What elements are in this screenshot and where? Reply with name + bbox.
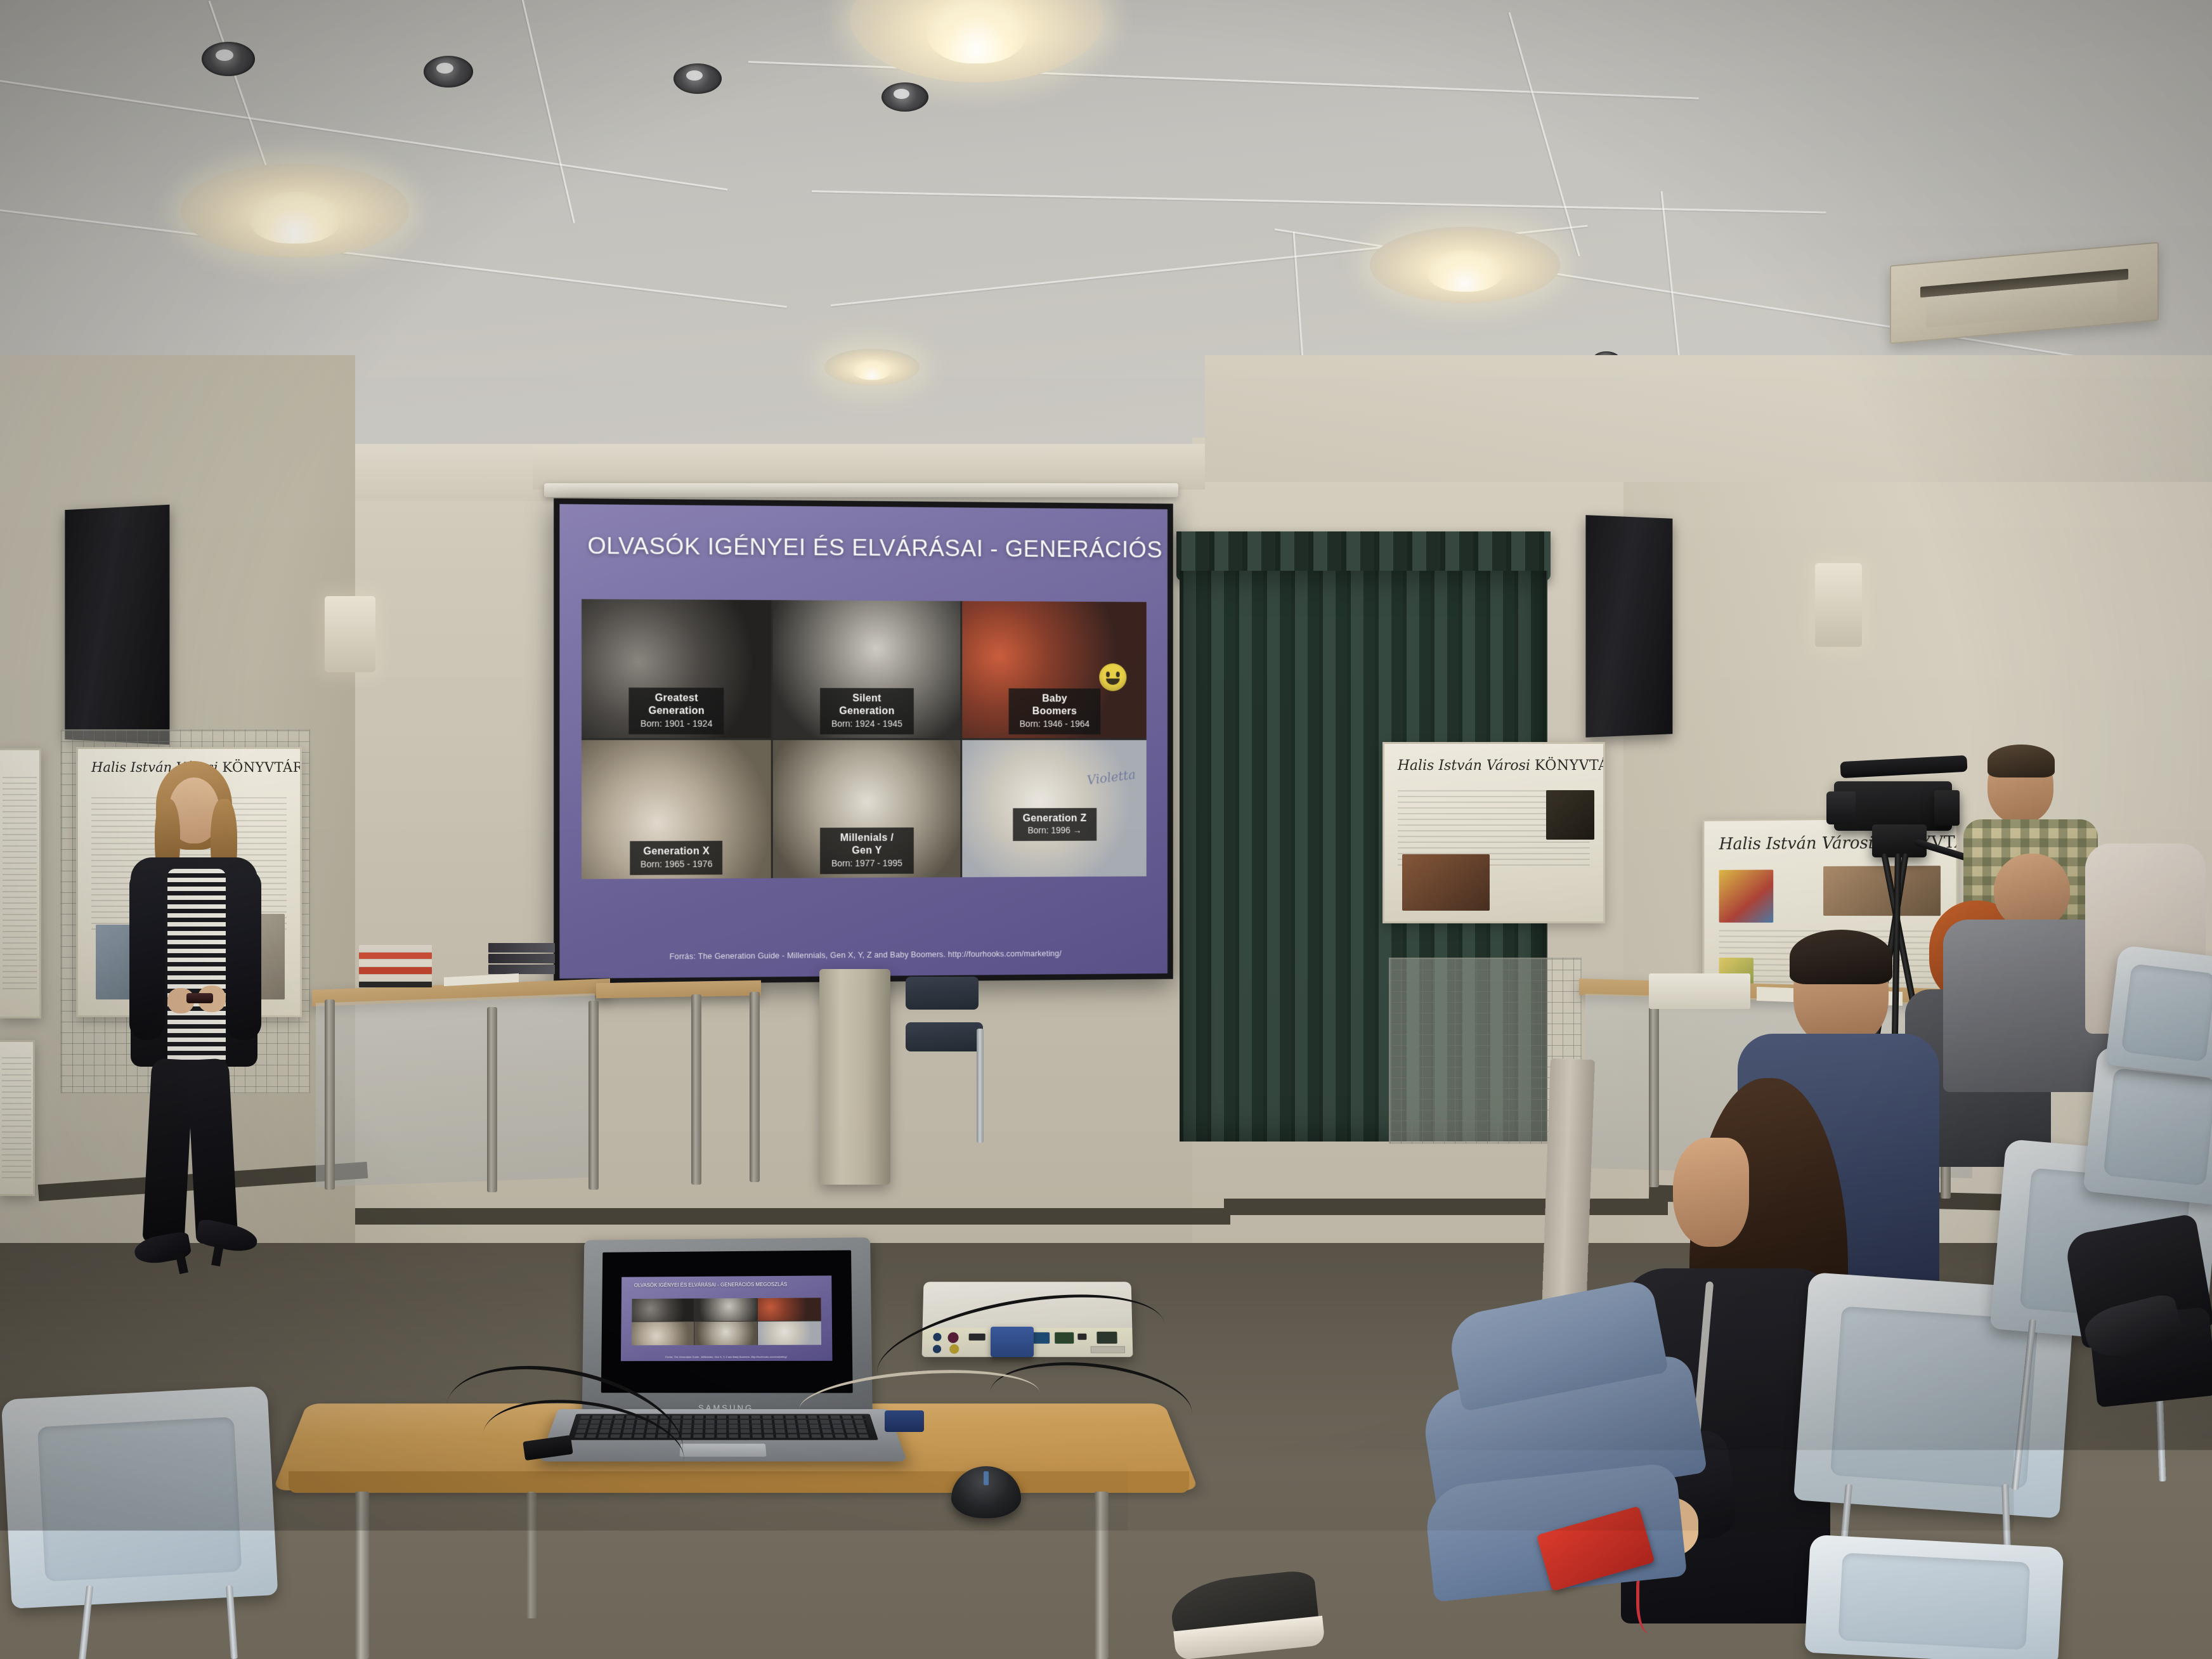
wall-sconce-left — [325, 596, 375, 672]
table-leg — [487, 1007, 497, 1192]
book-stack — [359, 945, 432, 987]
book — [359, 975, 432, 981]
slide-caption: Silent Generation Born: 1924 - 1945 — [820, 688, 914, 734]
slide-cell-baby-boomers: Baby Boomers Born: 1946 - 1964 — [962, 601, 1147, 738]
binder — [488, 954, 555, 963]
presenter-heel-right — [211, 1244, 224, 1266]
generation-years: Born: 1996 → — [1023, 825, 1087, 836]
violetta-scribble: Violetta — [1086, 767, 1136, 788]
poster-left-edge — [0, 748, 41, 1018]
table-leg — [589, 1001, 599, 1190]
book — [359, 960, 432, 966]
book — [359, 967, 432, 974]
laptop-slide-grid — [632, 1298, 821, 1345]
slide-cell-generation-z: Violetta Generation Z Born: 1996 → — [962, 740, 1147, 877]
laptop-slide-cell — [758, 1322, 821, 1345]
wall-speaker-left — [65, 505, 169, 745]
presenter-shoe-right — [195, 1218, 259, 1255]
conference-room-photo: Halis István Városi KÖNYVTÁR OLVASÓK IGÉ… — [0, 0, 2212, 1659]
presenter-striped-top — [167, 869, 226, 1078]
slide-cell-generation-x: Generation X Born: 1965 - 1976 — [582, 740, 771, 879]
generation-years: Born: 1901 - 1924 — [639, 719, 713, 730]
presenter-sleeve-right — [226, 869, 261, 1040]
laptop-slide-cell — [632, 1298, 694, 1322]
projection-screen: OLVASÓK IGÉNYEI ÉS ELVÁRÁSAI - GENERÁCIÓ… — [554, 498, 1173, 985]
ceiling-spot-light — [202, 42, 255, 76]
generation-name: Generation Z — [1023, 812, 1087, 826]
presenter-sleeve-left — [129, 869, 165, 1040]
presenter-table-edge — [289, 1471, 1189, 1493]
slide-cell-millennials: Millenials / Gen Y Born: 1977 - 1995 — [773, 740, 960, 878]
laptop-touchpad[interactable] — [679, 1443, 767, 1457]
audience-head — [1994, 854, 2070, 930]
poster-back-wall: Halis István Városi KÖNYVTÁR — [1382, 742, 1605, 923]
generation-name: Greatest Generation — [639, 692, 713, 718]
baseboard — [355, 1208, 1230, 1225]
generation-name: Millenials / Gen Y — [830, 832, 904, 858]
laptop-slide-cell — [632, 1322, 694, 1346]
camera-lens — [1826, 791, 1856, 824]
ceiling-spot-light — [673, 63, 722, 94]
right-upper-wall-band — [1205, 355, 2212, 482]
generation-years: Born: 1965 - 1976 — [641, 859, 712, 871]
binder — [488, 943, 555, 953]
presenter-trouser-left — [142, 1058, 193, 1244]
book — [359, 982, 432, 987]
chair-backrest-panel — [1838, 1552, 2031, 1649]
ceiling-spot-light — [424, 56, 473, 88]
slide-cell-greatest-generation: Greatest Generation Born: 1901 - 1924 — [582, 599, 771, 738]
projection-screen-roller — [544, 483, 1178, 497]
camera-viewfinder — [1934, 790, 1960, 826]
presenter-heel-left — [176, 1254, 188, 1274]
presenter-person — [101, 761, 285, 1306]
presentation-slide: OLVASÓK IGÉNYEI ÉS ELVÁRÁSAI - GENERÁCIÓ… — [559, 504, 1168, 979]
laptop-slide-cell — [694, 1322, 757, 1345]
chair-backrest-panel — [2103, 1068, 2212, 1186]
binder — [488, 965, 555, 974]
poster-thumbnail — [1546, 790, 1594, 840]
generation-name: Generation X — [641, 845, 712, 859]
book — [359, 945, 432, 952]
table-leg — [325, 999, 335, 1190]
chair-backrest-panel — [37, 1417, 242, 1582]
generation-years: Born: 1977 - 1995 — [830, 857, 904, 869]
chair-behind-screen-back — [906, 977, 979, 1010]
side-table-modesty-panel — [316, 993, 595, 1187]
laptop-screen: OLVASÓK IGÉNYEI ÉS ELVÁRÁSAI - GENERÁCIÓ… — [601, 1250, 853, 1393]
audience-face — [1673, 1138, 1749, 1247]
slide-caption: Baby Boomers Born: 1946 - 1964 — [1008, 688, 1101, 734]
generation-years: Born: 1946 - 1964 — [1018, 719, 1091, 730]
ceiling-spot-light — [882, 82, 928, 112]
chair-behind-screen-seat — [906, 1022, 983, 1051]
poster-body-text — [2, 1057, 31, 1179]
wall-speaker-right — [1585, 515, 1672, 738]
ceiling-downlight — [181, 164, 409, 257]
slide-caption: Millenials / Gen Y Born: 1977 - 1995 — [820, 828, 914, 874]
slide-caption: Generation X Born: 1965 - 1976 — [630, 841, 723, 875]
side-table-right — [596, 980, 761, 999]
smiley-face-icon — [1099, 663, 1126, 691]
audience-chair-nearest[interactable] — [1804, 1535, 2064, 1659]
table-leg — [750, 992, 760, 1182]
presentation-remote — [186, 993, 213, 1003]
laptop-slide-title: OLVASÓK IGÉNYEI ÉS ELVÁRÁSAI - GENERÁCIÓ… — [634, 1282, 823, 1289]
book — [359, 953, 432, 959]
poster-title: Halis István Városi KÖNYVTÁR — [1398, 758, 1591, 774]
ceiling-downlight — [1370, 227, 1560, 303]
poster-body-text — [3, 777, 37, 990]
table-leg — [1095, 1492, 1109, 1659]
slide-cell-silent-generation: Silent Generation Born: 1924 - 1945 — [773, 600, 960, 738]
chair-backrest-panel — [2121, 963, 2212, 1062]
table-leg — [691, 994, 701, 1185]
poster-thumbnail — [1402, 854, 1490, 911]
support-column — [819, 969, 890, 1185]
audience-chair-foreground[interactable] — [1, 1386, 278, 1609]
slide-caption: Greatest Generation Born: 1901 - 1924 — [629, 687, 724, 734]
laptop-slide-cell — [694, 1298, 757, 1322]
table-leg — [526, 1492, 537, 1618]
laptop-slide-preview: OLVASÓK IGÉNYEI ÉS ELVÁRÁSAI - GENERÁCIÓ… — [621, 1275, 832, 1361]
cameraman-hair — [1988, 745, 2055, 777]
chair-backrest-panel — [1830, 1306, 2038, 1488]
ceiling-downlight — [824, 349, 920, 386]
slide-title: OLVASÓK IGÉNYEI ÉS ELVÁRÁSAI - GENERÁCIÓ… — [587, 533, 1147, 563]
chair-leg — [977, 1029, 984, 1143]
slide-source-citation: Forrás: The Generation Guide - Millennia… — [559, 948, 1168, 962]
generation-name: Baby Boomers — [1018, 693, 1091, 719]
laptop-slide-source: Forrás: The Generation Guide - Millennia… — [621, 1355, 832, 1359]
presenter-trouser-right — [186, 1058, 238, 1244]
generation-years: Born: 1924 - 1945 — [830, 719, 904, 730]
slide-caption: Generation Z Born: 1996 → — [1013, 808, 1096, 841]
audience-hair-dark — [1790, 930, 1892, 984]
audience-chair-back-row[interactable] — [2105, 945, 2212, 1079]
laptop-slide-cell — [758, 1298, 821, 1321]
poster-left-edge-lower — [0, 1040, 35, 1196]
slide-image-grid: Greatest Generation Born: 1901 - 1924 Si… — [582, 599, 1147, 879]
wall-sconce-right — [1815, 563, 1862, 647]
generation-name: Silent Generation — [830, 693, 904, 719]
poster-thumbnail-artwork — [1719, 870, 1774, 923]
table-leg — [355, 1492, 369, 1659]
